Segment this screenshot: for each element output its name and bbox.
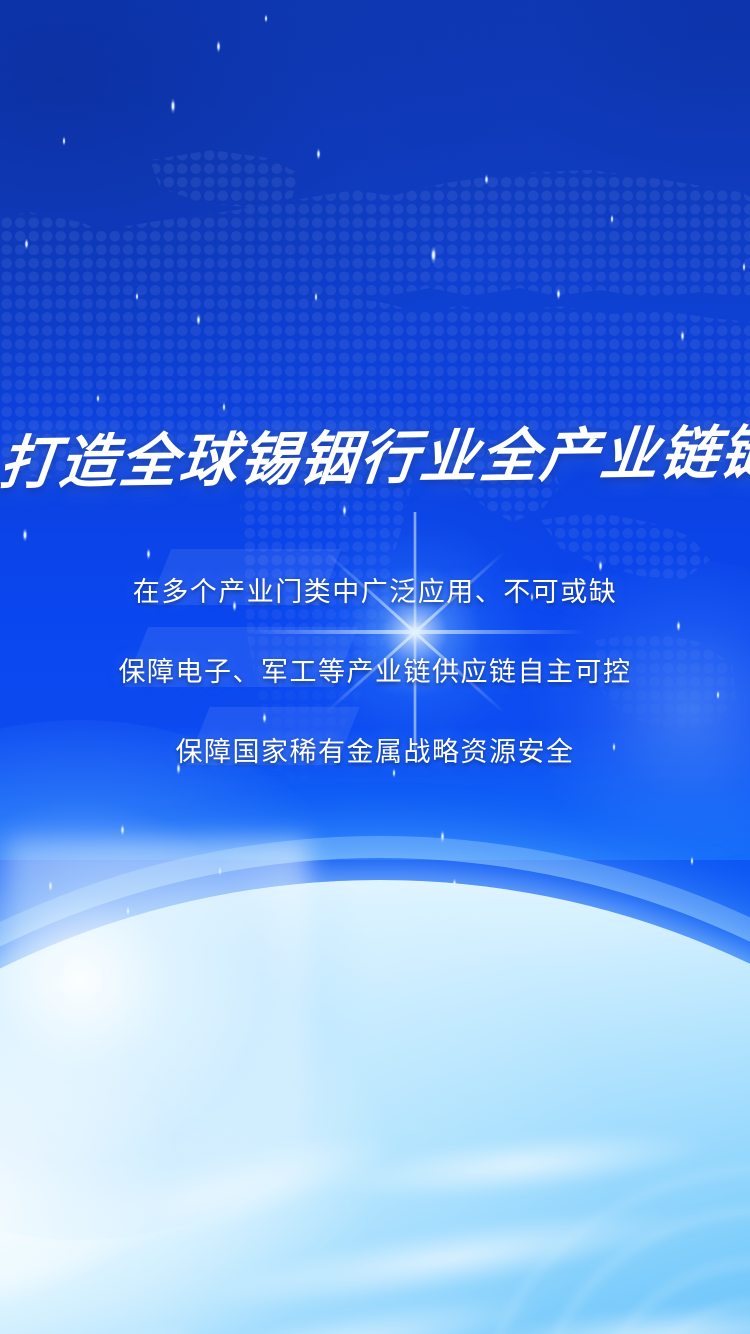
subtitle-line-3: 保障国家稀有金属战略资源安全 xyxy=(0,712,750,792)
subtitle-list: 在多个产业门类中广泛应用、不可或缺 保障电子、军工等产业链供应链自主可控 保障国… xyxy=(0,552,750,792)
page-title: 打造全球锡铟行业全产业链链主 xyxy=(0,415,750,503)
subtitle-line-1: 在多个产业门类中广泛应用、不可或缺 xyxy=(0,552,750,632)
subtitle-line-2: 保障电子、军工等产业链供应链自主可控 xyxy=(0,632,750,712)
poster-canvas: 打造全球锡铟行业全产业链链主 在多个产业门类中广泛应用、不可或缺 保障电子、军工… xyxy=(0,0,750,1334)
